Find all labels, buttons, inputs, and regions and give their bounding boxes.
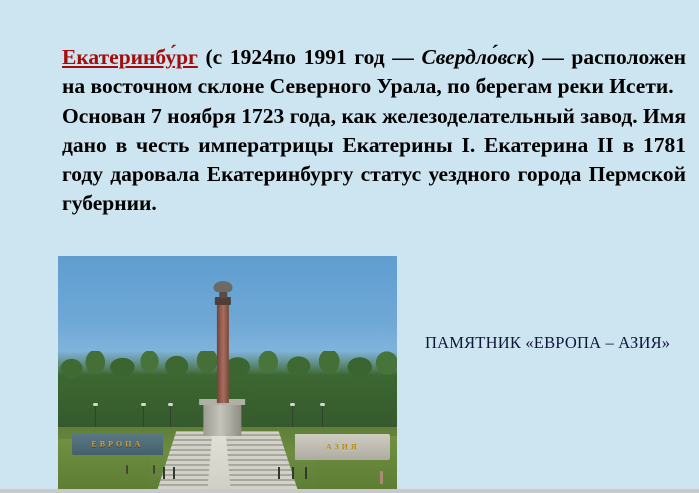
photo-railing-post: [163, 467, 165, 479]
photo-caption: ПАМЯТНИК «ЕВРОПА – АЗИЯ»: [425, 333, 687, 353]
bottom-strip: [0, 489, 699, 493]
photo-eagle-finial-icon: [214, 281, 233, 292]
photo-figure: [126, 465, 128, 474]
photo-wall-asia-label: АЗИЯ: [326, 442, 360, 451]
photo-lamp-post: [322, 405, 323, 426]
photo-pedestal: [204, 403, 241, 436]
city-name-heading: Екатеринбу́рг: [62, 45, 198, 69]
photo-lamp-post: [95, 405, 96, 426]
photo-lamp-post: [143, 405, 144, 426]
photo-wall-europe-label: ЕВРОПА: [91, 439, 143, 448]
photo-railing-post: [292, 467, 294, 479]
slide-body-text: Екатеринбу́рг (с 1924по 1991 год — Сверд…: [62, 43, 686, 219]
photo-railing-post: [278, 467, 280, 479]
photo-railing-post: [173, 467, 175, 479]
photo-column-capital: [215, 297, 231, 305]
photo-figure: [380, 471, 383, 484]
photo-wall-europe: ЕВРОПА: [72, 433, 164, 456]
photo-railing-post: [305, 467, 307, 479]
paragraph-1-middle: (с 1924по 1991 год —: [198, 45, 422, 69]
paragraph-2: Основан 7 ноября 1723 года, как железоде…: [62, 102, 686, 219]
former-city-name: Свердло́вск: [421, 45, 527, 69]
photo-figure: [153, 465, 155, 474]
photo-wall-asia: АЗИЯ: [295, 434, 390, 460]
slide: Екатеринбу́рг (с 1924по 1991 год — Сверд…: [0, 0, 699, 493]
paragraph-1: Екатеринбу́рг (с 1924по 1991 год — Сверд…: [62, 43, 686, 102]
photo-column-shaft: [217, 303, 229, 403]
photo-lamp-post: [170, 405, 171, 426]
photo-lamp-post: [292, 405, 293, 426]
monument-photo: ЕВРОПА АЗИЯ: [58, 256, 397, 493]
